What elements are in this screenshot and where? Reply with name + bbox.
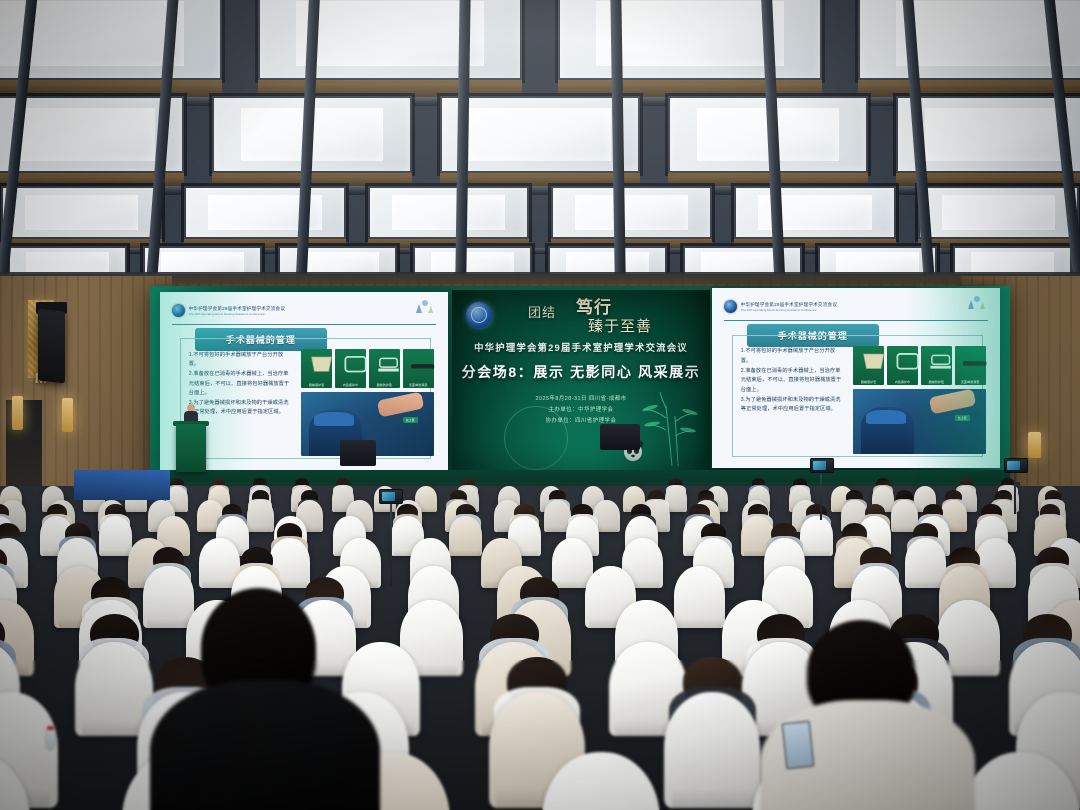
ceiling-panel-inner [296, 1, 483, 66]
ceiling-panel-inner [13, 108, 155, 160]
audience-chair [674, 566, 725, 628]
tripod-camera-center [810, 458, 834, 473]
thumbnail-label: 无菌单防滑垫 [961, 380, 980, 384]
slide-body-line: 3.为了避免器械损坏和未及物的干燥或清洗等正常处理，术中应用后置于指定区域。 [189, 399, 293, 418]
thumbnail-label: 内镜保护巾 [343, 383, 359, 387]
water-bottle [47, 730, 54, 748]
ceiling-light-panel [184, 186, 345, 239]
thumbnail-label: 无菌单防滑垫 [409, 383, 428, 387]
ceiling-panel-inner [575, 195, 688, 230]
slide-thumbnail-row-left: 器械保护套 内镜保护巾 器械防护垫 无菌单防滑垫 [301, 349, 433, 388]
ceiling-panel-inner [596, 1, 783, 66]
foreground-attendee-body [150, 680, 380, 810]
ceiling-light-panel [258, 0, 522, 80]
ceiling-wood-reveal [858, 80, 1080, 97]
video-camera-left [340, 440, 376, 466]
slide-thumbnail: 内镜保护巾 [887, 346, 918, 386]
audience-chair [552, 538, 593, 588]
water-bottle-cap [47, 726, 54, 730]
ceiling-light-panel [734, 186, 895, 239]
ceiling-light-panel [440, 96, 641, 173]
ceiling-panel-inner [392, 195, 505, 230]
audience-chair [905, 538, 946, 588]
slide-body-right: 1.不可将包好的手术器械放于产台分开放置。 2.准备放在已消毒的手术器械上，当治… [741, 347, 845, 414]
slide-header-right: 中华护理学会第29届手术室护理学术交流会议 The 29th Operating… [724, 293, 989, 321]
photo-hands [377, 392, 425, 417]
slide-body-line: 2.准备放在已消毒的手术器械上，当治疗单元结束后，不可以、直接将包好器械放置于台… [741, 367, 845, 396]
slide-corner-decoration-icon [964, 293, 986, 311]
ceiling-wood-reveal [558, 80, 822, 97]
ceiling-wood-reveal [258, 80, 522, 97]
audience-chair [800, 516, 833, 556]
ceiling-panel-inner [925, 108, 1067, 160]
ceiling-light-grid [0, 0, 1080, 296]
slide-thumbnail-row-right: 器械保护套 内镜保护巾 器械防护垫 无菌单防滑垫 [853, 346, 985, 386]
slide-thumbnail: 无菌单防滑垫 [403, 349, 434, 388]
video-camera-center [600, 424, 640, 450]
wall-sconce-left-2 [62, 398, 73, 432]
slide-photo-right: 台上区 [853, 389, 985, 454]
slide-header-text: 中华护理学会第29届手术室护理学术交流会议 [741, 302, 838, 308]
slide-corner-decoration-icon [412, 297, 434, 315]
ceiling-light-panel [918, 186, 1079, 239]
speaker-podium [176, 424, 206, 472]
audience-chair [449, 516, 482, 556]
photo-surgical-cap [314, 412, 354, 426]
ceiling-panel-inner [942, 195, 1055, 230]
photo-tag: 台上区 [403, 417, 418, 423]
photo-surgical-cap [866, 410, 906, 424]
audience-chair [99, 516, 132, 556]
ceiling-wood-reveal [668, 173, 869, 186]
audience-chair [247, 500, 274, 532]
ceiling-panel-inner [469, 108, 611, 160]
slide-body-line: 3.为了避免器械损坏和未及物的干燥或清洗等正常处理，术中应用后置于指定区域。 [741, 396, 845, 415]
tripod-leg [1014, 470, 1016, 514]
led-vignette [452, 290, 710, 472]
line-array-speaker-icon [38, 309, 65, 384]
cna-logo-icon [724, 300, 737, 313]
slide-body-line: 1.不可将包好的手术器械放于产台分开放置。 [741, 347, 845, 366]
audience-chair [143, 566, 194, 628]
tripod-camera-right [1004, 458, 1028, 473]
slide-thumbnail: 器械防护垫 [921, 346, 952, 386]
slide-thumbnail: 器械保护套 [853, 346, 884, 386]
slide-body-line: 1.不可将包好的手术器械放于产台分开放置。 [189, 351, 293, 370]
tech-table-left [74, 470, 170, 500]
tripod-leg [390, 500, 392, 586]
wall-sconce-left [12, 396, 23, 430]
photo-tag: 台上区 [955, 415, 970, 421]
audience-smartphone [782, 721, 815, 770]
cna-logo-icon [172, 304, 185, 317]
tripod-camera-left [379, 489, 403, 504]
right-projection-slide: 中华护理学会第29届手术室护理学术交流会议 The 29th Operating… [712, 288, 1000, 468]
slide-header-text: 中华护理学会第29届手术室护理学术交流会议 [189, 306, 286, 312]
thumbnail-label: 器械保护套 [309, 383, 325, 387]
ceiling-light-panel [368, 186, 529, 239]
conference-hall-photo: M 中华护理学会第29届手术室护理学术交流会议 The 29th Operati… [0, 0, 1080, 810]
slide-thumbnail: 器械防护垫 [369, 349, 400, 388]
ceiling-wood-reveal [0, 80, 222, 97]
audience-chair [664, 692, 760, 808]
thumbnail-label: 器械保护套 [861, 380, 877, 384]
tripod-leg [820, 470, 822, 520]
slide-thumbnail: 无菌单防滑垫 [955, 346, 986, 386]
slide-header-subtext: The 29th Operating Room Nursing Academic… [189, 312, 286, 316]
ceiling-wood-reveal [440, 173, 641, 186]
slide-thumbnail: 内镜保护巾 [335, 349, 366, 388]
ceiling-light-panel [1, 186, 162, 239]
slide-header-subtext: The 29th Operating Room Nursing Academic… [741, 308, 838, 312]
slide-thumbnail: 器械保护套 [301, 349, 332, 388]
photo-hands [929, 389, 977, 414]
slide-body-left: 1.不可将包好的手术器械放于产台分开放置。 2.准备放在已消毒的手术器械上，当治… [189, 351, 293, 418]
thumbnail-label: 内镜保护巾 [895, 380, 911, 384]
thumbnail-label: 器械防护垫 [929, 380, 945, 384]
center-led-screen: 团结 笃行 臻于至善 中华护理学会第29届手术室护理学术交流会议 分会场8：展示… [452, 290, 710, 472]
ceiling-light-panel [558, 0, 822, 80]
ceiling-panel-inner [25, 195, 138, 230]
ceiling-light-panel [551, 186, 712, 239]
slide-body-line: 2.准备放在已消毒的手术器械上，当治疗单元结束后，不可以、直接将包好器械放置于台… [189, 370, 293, 399]
wall-sconce-right [1028, 432, 1041, 458]
thumbnail-label: 器械防护垫 [377, 383, 393, 387]
slide-header-left: 中华护理学会第29届手术室护理学术交流会议 The 29th Operating… [172, 297, 437, 325]
ceiling-wood-reveal [212, 173, 413, 186]
